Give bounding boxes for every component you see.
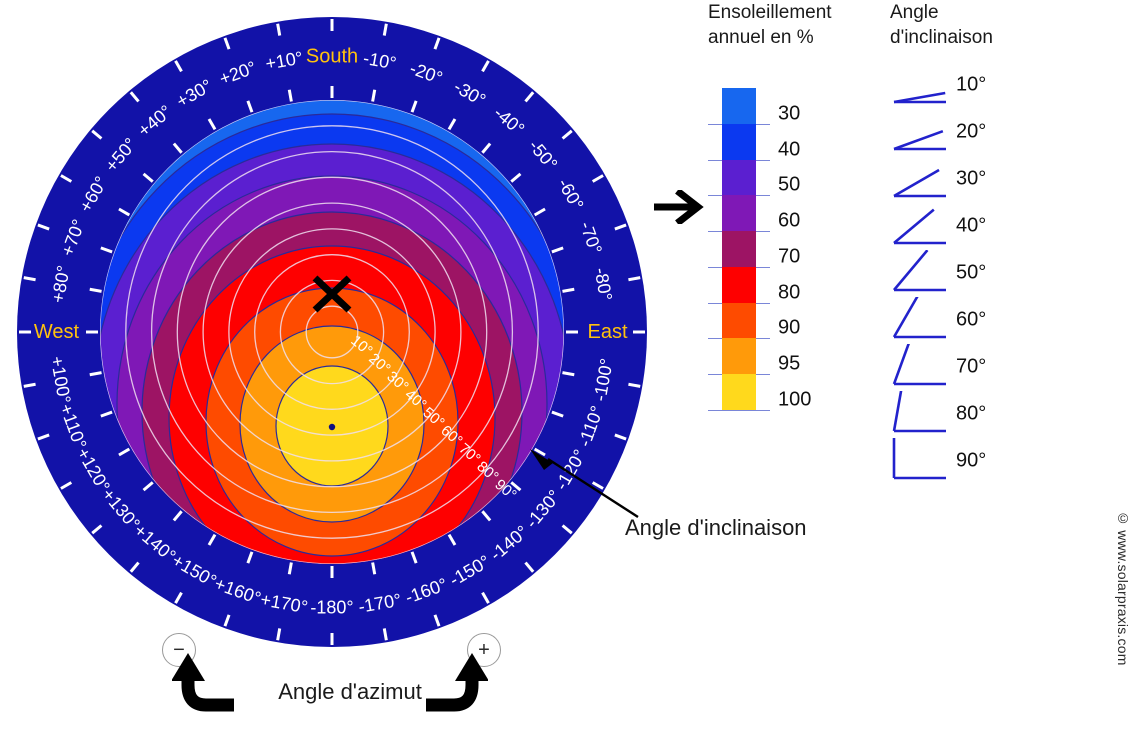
tilt-legend-row-90[interactable]: 90°	[888, 438, 1078, 484]
legend-swatch-40[interactable]	[722, 124, 756, 160]
cardinal-label-west: West	[34, 321, 80, 343]
tilt-legend-row-80[interactable]: 80°	[888, 391, 1078, 437]
rotate-left-arrow-icon	[172, 651, 238, 713]
legend-label-90: 90	[778, 317, 800, 340]
azimuth-caption: Angle d'azimut	[235, 679, 465, 705]
legend-label-60: 60	[778, 210, 800, 233]
tilt-legend-label-20: 20°	[956, 121, 986, 144]
azimuth-tick--100	[628, 384, 640, 386]
legend-label-80: 80	[778, 281, 800, 304]
legend-swatch-100[interactable]	[722, 374, 756, 410]
tilt-legend-label-80: 80°	[956, 403, 986, 426]
legend-swatch-50[interactable]	[722, 160, 756, 196]
tilt-legend-label-70: 70°	[956, 356, 986, 379]
azimuth-tick-10	[278, 24, 280, 36]
center-dot-marker	[329, 424, 335, 430]
legend-swatch-30[interactable]	[722, 88, 756, 124]
azimuth-tick-170	[289, 562, 291, 574]
tilt-legend-title: Angle d'inclinaison	[890, 0, 1060, 50]
angle-10-icon	[890, 62, 950, 108]
azimuth-tick--10	[384, 24, 386, 36]
tilt-legend-label-40: 40°	[956, 215, 986, 238]
tilt-legend-row-70[interactable]: 70°	[888, 344, 1078, 390]
color-legend: Ensoleillement annuel en % 3040506070809…	[706, 0, 856, 420]
cardinal-label-east: East	[587, 321, 627, 343]
azimuth-tick--80	[562, 289, 574, 291]
angle-60-icon	[890, 297, 950, 343]
angle-70-icon	[890, 344, 950, 390]
angle-90-icon	[890, 438, 950, 484]
azimuth-tick--100	[562, 373, 574, 375]
tilt-legend-label-50: 50°	[956, 262, 986, 285]
tilt-annotation-label: Angle d'inclinaison	[625, 515, 807, 541]
legend-label-40: 40	[778, 138, 800, 161]
angle-50-icon	[890, 250, 950, 296]
azimuth-tick--80	[628, 278, 640, 280]
tilt-legend-label-60: 60°	[956, 309, 986, 332]
copyright-text: © www.solarpraxis.com	[1115, 510, 1131, 666]
legend-label-100: 100	[778, 388, 811, 411]
tilt-legend-row-50[interactable]: 50°	[888, 250, 1078, 296]
color-legend-title: Ensoleillement annuel en %	[708, 0, 868, 50]
tilt-legend-label-90: 90°	[956, 450, 986, 473]
tilt-legend-label-10: 10°	[956, 74, 986, 97]
tilt-legend-label-30: 30°	[956, 168, 986, 191]
tilt-legend-row-10[interactable]: 10°	[888, 62, 1078, 108]
tilt-legend-row-40[interactable]: 40°	[888, 203, 1078, 249]
tilt-annotation: Angle d'inclinaison	[520, 445, 860, 550]
legend-label-95: 95	[778, 353, 800, 376]
azimuth-tick-80	[24, 278, 36, 280]
legend-tick-100	[708, 410, 770, 411]
azimuth-tick-100	[24, 384, 36, 386]
azimuth-tick--170	[373, 562, 375, 574]
azimuth-label--180: -180°	[310, 598, 353, 618]
cardinal-label-south: South	[306, 46, 358, 68]
angle-80-icon	[890, 391, 950, 437]
legend-label-50: 50	[778, 174, 800, 197]
tilt-angle-legend: Angle d'inclinaison 10°20°30°40°50°60°70…	[888, 0, 1078, 570]
legend-swatch-95[interactable]	[722, 338, 756, 374]
azimuth-tick-10	[289, 90, 291, 102]
tilt-legend-row-30[interactable]: 30°	[888, 156, 1078, 202]
polar-irradiation-chart[interactable]: 10° 20° 30° 40° 50° 60° 70° 80° 90° -180…	[0, 0, 665, 665]
color-legend-bar[interactable]: 3040506070809095100	[722, 88, 756, 410]
azimuth-control: − + Angle d'azimut	[130, 625, 560, 730]
legend-swatch-60[interactable]	[722, 195, 756, 231]
right-arrow-icon	[654, 190, 710, 224]
azimuth-tick-80	[90, 289, 102, 291]
azimuth-tick--10	[373, 90, 375, 102]
angle-40-icon	[890, 203, 950, 249]
legend-label-30: 30	[778, 102, 800, 125]
legend-swatch-90[interactable]	[722, 303, 756, 339]
azimuth-tick-100	[90, 373, 102, 375]
diagram-stage: 10° 20° 30° 40° 50° 60° 70° 80° 90° -180…	[0, 0, 1137, 736]
legend-swatch-70[interactable]	[722, 231, 756, 267]
legend-swatch-80[interactable]	[722, 267, 756, 303]
legend-label-70: 70	[778, 245, 800, 268]
angle-30-icon	[890, 156, 950, 202]
tilt-legend-row-60[interactable]: 60°	[888, 297, 1078, 343]
tilt-legend-row-20[interactable]: 20°	[888, 109, 1078, 155]
angle-20-icon	[890, 109, 950, 155]
